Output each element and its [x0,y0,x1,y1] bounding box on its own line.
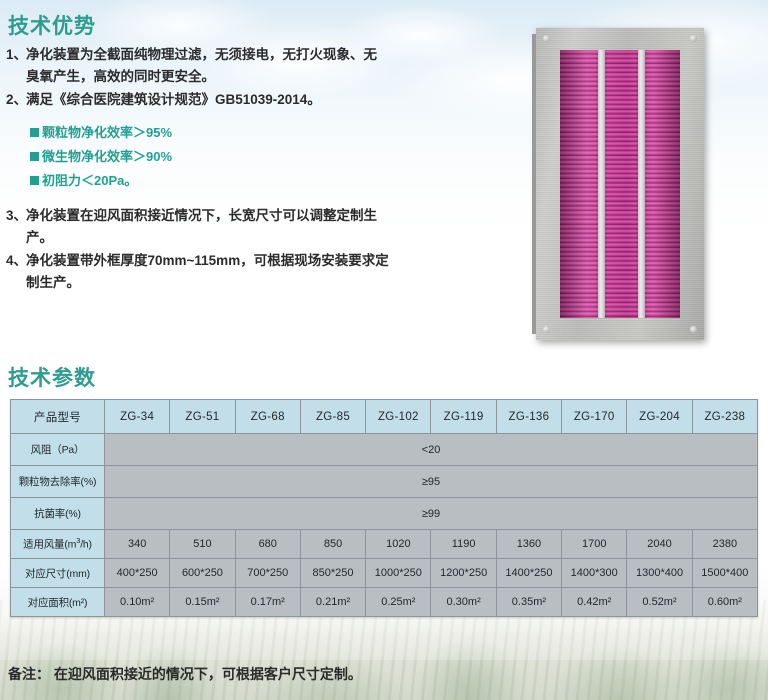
screw-icon [543,326,550,333]
media-shading [560,50,680,318]
table-header-cell: ZG-51 [170,400,235,434]
table-row: 抗菌率(%) ≥99 [11,498,758,530]
table-cell: 700*250 [235,559,300,588]
screw-icon [543,35,550,42]
table-cell: 600*250 [170,559,235,588]
list-item-number: 2、 [6,89,26,111]
table-cell: 1400*250 [496,559,561,588]
row-label: 对应面积(m²) [11,588,105,617]
table-cell: 1190 [431,530,496,559]
table-header-cell: ZG-68 [235,400,300,434]
table-cell: 510 [170,530,235,559]
table-cell: 400*250 [105,559,170,588]
spec-bullet-list: 颗粒物净化效率＞95% 微生物净化效率＞90% 初阻力＜20Pa。 [30,126,172,198]
table-cell: 850*250 [300,559,365,588]
row-label-tail: /h) [80,539,92,551]
separator-strip [598,50,605,318]
spec-bullet-item: 初阻力＜20Pa。 [30,174,172,187]
product-photo-pleated-air-filter [536,28,704,340]
table-cell: 1700 [562,530,627,559]
table-header-cell: ZG-238 [692,400,757,434]
list-item: 2、 满足《综合医院建筑设计规范》GB51039-2014。 [6,89,386,111]
table-header-row: 产品型号 ZG-34 ZG-51 ZG-68 ZG-85 ZG-102 ZG-1… [11,400,758,434]
list-item-text: 满足《综合医院建筑设计规范》GB51039-2014。 [26,89,386,111]
filter-media [560,50,680,318]
table-cell: 0.42m² [562,588,627,617]
technical-parameters-table: 产品型号 ZG-34 ZG-51 ZG-68 ZG-85 ZG-102 ZG-1… [10,399,758,617]
section-title-technical-parameters: 技术参数 [8,362,96,392]
section-title-technical-advantage: 技术优势 [8,10,96,40]
table-cell: 2040 [627,530,692,559]
table-cell: 0.25m² [366,588,431,617]
table-cell: 1360 [496,530,561,559]
advantage-list: 1、 净化装置为全截面纯物理过滤，无须接电，无打火现象、无臭氧产生，高效的同时更… [6,44,386,112]
table-cell: 850 [300,530,365,559]
row-merged-value: ≥95 [105,466,758,498]
table-header-cell: ZG-34 [105,400,170,434]
table-cell: 0.60m² [692,588,757,617]
table-header-label: 产品型号 [11,400,105,434]
table-row: 风阻（Pa） <20 [11,434,758,466]
table-header-cell: ZG-119 [431,400,496,434]
table-cell: 0.17m² [235,588,300,617]
screw-icon [690,35,697,42]
table-row: 对应面积(m²) 0.10m² 0.15m² 0.17m² 0.21m² 0.2… [11,588,758,617]
table-cell: 1400*300 [562,559,627,588]
table-cell: 2380 [692,530,757,559]
row-label: 对应尺寸(mm) [11,559,105,588]
screw-icon [690,326,697,333]
table-footnote: 备注： 在迎风面积接近的情况下，可根据客户尺寸定制。 [8,664,362,684]
row-label: 风阻（Pa） [11,434,105,466]
row-merged-value: <20 [105,434,758,466]
table-cell: 0.52m² [627,588,692,617]
table-cell: 0.15m² [170,588,235,617]
table-cell: 1500*400 [692,559,757,588]
list-item-number: 3、 [6,205,26,249]
table-cell: 0.10m² [105,588,170,617]
table-cell: 680 [235,530,300,559]
table-header-cell: ZG-136 [496,400,561,434]
square-bullet-icon [30,176,39,185]
row-label: 颗粒物去除率(%) [11,466,105,498]
list-item-number: 1、 [6,44,26,88]
table-cell: 1200*250 [431,559,496,588]
table-cell: 0.21m² [300,588,365,617]
row-label-main: 适用风量(m [23,539,76,551]
advantage-list-continued: 3、 净化装置在迎风面积接近情况下，长宽尺寸可以调整定制生产。 4、 净化装置带… [6,205,396,294]
table-cell: 1000*250 [366,559,431,588]
table-header-cell: ZG-170 [562,400,627,434]
list-item-text: 净化装置为全截面纯物理过滤，无须接电，无打火现象、无臭氧产生，高效的同时更安全。 [26,44,386,88]
row-merged-value: ≥99 [105,498,758,530]
table-header-cell: ZG-85 [300,400,365,434]
list-item-text: 净化装置带外框厚度70mm~115mm，可根据现场安装要求定制生产。 [26,250,396,294]
table-cell: 340 [105,530,170,559]
row-label: 抗菌率(%) [11,498,105,530]
list-item-number: 4、 [6,250,26,294]
list-item: 3、 净化装置在迎风面积接近情况下，长宽尺寸可以调整定制生产。 [6,205,396,249]
spec-bullet-item: 微生物净化效率＞90% [30,150,172,163]
filter-frame [536,28,704,340]
table-cell: 1300*400 [627,559,692,588]
list-item: 1、 净化装置为全截面纯物理过滤，无须接电，无打火现象、无臭氧产生，高效的同时更… [6,44,386,88]
table-cell: 0.35m² [496,588,561,617]
table-cell: 1020 [366,530,431,559]
square-bullet-icon [30,152,39,161]
list-item-text: 净化装置在迎风面积接近情况下，长宽尺寸可以调整定制生产。 [26,205,396,249]
table-row: 适用风量(m3/h) 340 510 680 850 1020 1190 136… [11,530,758,559]
table-row: 对应尺寸(mm) 400*250 600*250 700*250 850*250… [11,559,758,588]
table-header-cell: ZG-204 [627,400,692,434]
spec-bullet-item: 颗粒物净化效率＞95% [30,126,172,139]
table-header-cell: ZG-102 [366,400,431,434]
separator-strip [638,50,645,318]
spec-bullet-label: 颗粒物净化效率＞95% [42,126,172,139]
table-row: 颗粒物去除率(%) ≥95 [11,466,758,498]
spec-bullet-label: 初阻力＜20Pa。 [42,174,137,187]
spec-bullet-label: 微生物净化效率＞90% [42,150,172,163]
row-label: 适用风量(m3/h) [11,530,105,559]
table-cell: 0.30m² [431,588,496,617]
list-item: 4、 净化装置带外框厚度70mm~115mm，可根据现场安装要求定制生产。 [6,250,396,294]
square-bullet-icon [30,128,39,137]
